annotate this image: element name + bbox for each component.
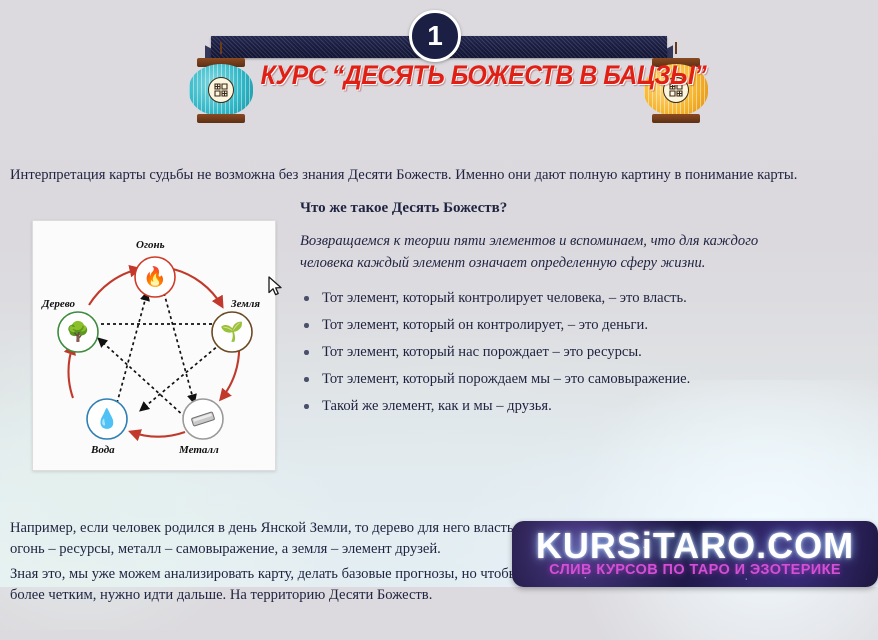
lantern-base [197, 114, 245, 123]
bullet-dot-icon [304, 404, 309, 409]
lantern-body [189, 64, 253, 116]
list-item-label: Тот элемент, который контролирует челове… [322, 290, 687, 306]
course-title: КУРС “ДЕСЯТЬ БОЖЕСТВ В БАЦЗЫ” [261, 60, 620, 100]
lantern-cord [220, 42, 222, 54]
list-item: Тот элемент, который нас порождает – это… [300, 344, 870, 362]
metal-icon [184, 400, 222, 438]
element-label-earth: Земля [231, 298, 260, 310]
ten-gods-bullet-list: Тот элемент, который контролирует челове… [300, 290, 870, 416]
mouse-pointer-icon [268, 276, 284, 298]
list-item: Тот элемент, который он контролирует, – … [300, 317, 870, 335]
watermark-tagline: СЛИВ КУРСОВ ПО ТАРО И ЭЗОТЕРИКЕ [512, 562, 878, 578]
list-item: Тот элемент, который контролирует челове… [300, 290, 870, 308]
five-elements-diagram: 🔥 🌱 💧 🌳 Огонь Земля Металл Вода Дерево [32, 220, 276, 471]
element-label-water: Вода [91, 444, 115, 456]
chinese-lantern-teal-icon [188, 52, 254, 126]
site-watermark: KURSiTARO.COM СЛИВ КУРСОВ ПО ТАРО И ЭЗОТ… [512, 521, 878, 587]
bullet-dot-icon [304, 350, 309, 355]
element-label-metal: Металл [179, 444, 219, 456]
section-subheading: Что же такое Десять Божеств? [300, 200, 870, 217]
water-icon: 💧 [88, 400, 126, 438]
fire-icon: 🔥 [136, 258, 174, 296]
watermark-domain: KURSiTARO.COM [512, 525, 878, 567]
list-item: Такой же элемент, как и мы – друзья. [300, 398, 870, 416]
list-item: Тот элемент, который порождаем мы – это … [300, 371, 870, 389]
lead-paragraph: Возвращаемся к теории пяти элементов и в… [300, 231, 810, 274]
wood-icon: 🌳 [59, 313, 97, 351]
list-item-label: Такой же элемент, как и мы – друзья. [322, 398, 552, 414]
element-label-fire: Огонь [136, 239, 165, 251]
intro-paragraph: Интерпретация карты судьбы не возможна б… [10, 165, 868, 186]
bullet-dot-icon [304, 377, 309, 382]
bullet-dot-icon [304, 296, 309, 301]
step-number-badge: 1 [409, 10, 461, 62]
lantern-emblem-icon [208, 77, 234, 103]
header-banner: 1 [0, 0, 878, 132]
lantern-base [652, 114, 700, 123]
element-label-wood: Дерево [42, 298, 75, 310]
lantern-cord [675, 42, 677, 54]
content-column: Что же такое Десять Божеств? Возвращаемс… [300, 200, 870, 425]
list-item-label: Тот элемент, который нас порождает – это… [322, 344, 642, 360]
earth-icon: 🌱 [213, 313, 251, 351]
list-item-label: Тот элемент, который он контролирует, – … [322, 317, 648, 333]
list-item-label: Тот элемент, который порождаем мы – это … [322, 371, 690, 387]
bullet-dot-icon [304, 323, 309, 328]
